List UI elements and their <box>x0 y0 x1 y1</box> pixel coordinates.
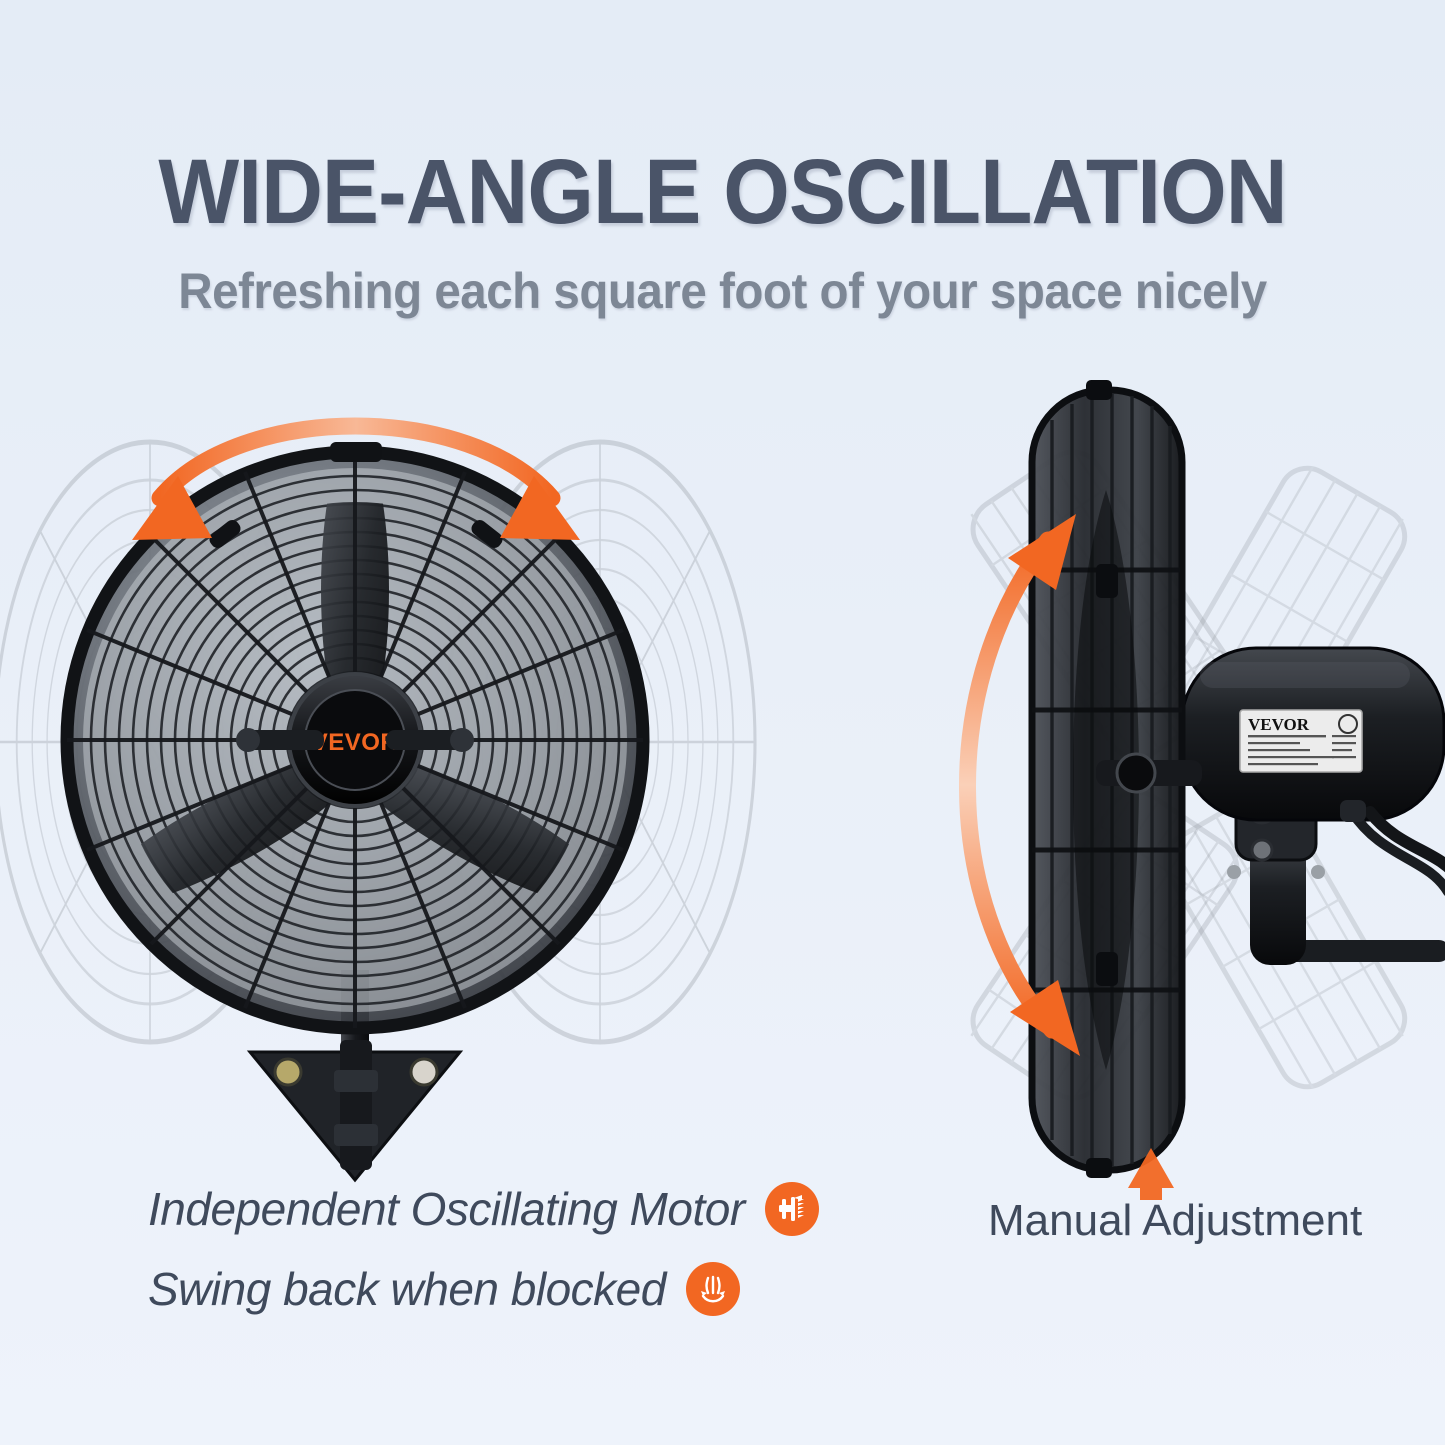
page-subtitle: Refreshing each square foot of your spac… <box>36 262 1409 320</box>
swing-back-icon <box>686 1262 740 1316</box>
motor-spec-label: VEVOR <box>1240 710 1362 772</box>
marketing-banner: WIDE-ANGLE OSCILLATION Refreshing each s… <box>0 0 1445 1445</box>
manual-adjustment-label: Manual Adjustment <box>988 1195 1362 1247</box>
feature-independent-oscillating-motor: Independent Oscillating Motor <box>148 1182 819 1236</box>
fan-side-view-illustration: VEVOR <box>900 380 1445 1180</box>
fan-cage-side-profile <box>1032 380 1202 1178</box>
motor-label-brand: VEVOR <box>1248 715 1310 734</box>
feature-label: Swing back when blocked <box>148 1263 666 1315</box>
page-title: WIDE-ANGLE OSCILLATION <box>51 144 1395 240</box>
feature-label: Independent Oscillating Motor <box>148 1183 745 1235</box>
feature-swing-back-when-blocked: Swing back when blocked <box>148 1262 740 1316</box>
fan-front-view-illustration: VEVOR <box>0 380 790 1180</box>
hub-brand-logo: VEVOR <box>312 729 399 756</box>
oscillating-motor-icon <box>765 1182 819 1236</box>
